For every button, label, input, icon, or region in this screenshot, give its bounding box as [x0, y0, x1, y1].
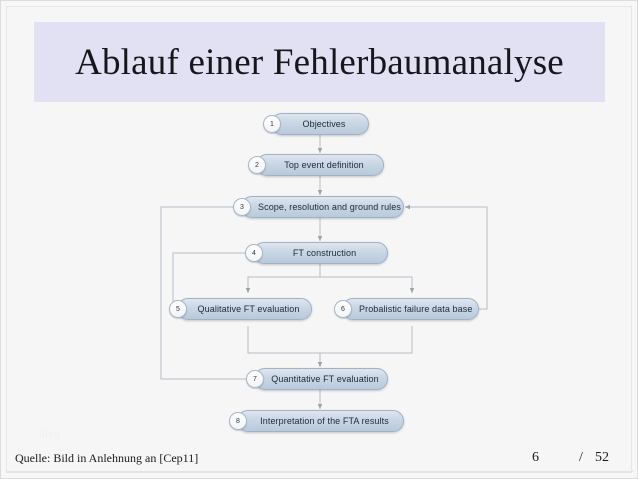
flow-node-5-badge: 5	[169, 300, 187, 318]
flow-node-5-label: Qualitative FT evaluation	[178, 304, 311, 314]
flow-node-8[interactable]: 8 Interpretation of the FTA results	[237, 410, 404, 432]
footer-page-current: 6	[532, 450, 539, 466]
flow-node-2-label: Top event definition	[257, 160, 383, 170]
flow-node-3-label: Scope, resolution and ground rules	[242, 202, 409, 212]
flow-node-1-label: Objectives	[272, 119, 368, 129]
flow-node-4-label: FT construction	[254, 248, 387, 258]
flow-node-7-badge: 7	[246, 370, 264, 388]
page-title: Ablauf einer Fehlerbaumanalyse	[34, 22, 605, 102]
flow-node-5[interactable]: 5 Qualitative FT evaluation	[177, 298, 312, 320]
slide-canvas: Ablauf einer Fehlerbaumanalyse	[0, 0, 638, 479]
footer-page-separator: /	[579, 450, 583, 466]
flow-node-7[interactable]: 7 Quantitative FT evaluation	[254, 368, 388, 390]
flow-node-2-badge: 2	[248, 156, 266, 174]
footer-source-citation: Quelle: Bild in Anlehnung an [Cep11]	[15, 451, 198, 466]
title-band: Ablauf einer Fehlerbaumanalyse	[34, 22, 605, 102]
flow-node-6-label: Probalistic failure data base	[343, 304, 480, 314]
flow-node-8-label: Interpretation of the FTA results	[238, 416, 403, 426]
flow-node-2[interactable]: 2 Top event definition	[256, 154, 384, 176]
flow-node-7-label: Quantitative FT evaluation	[255, 374, 387, 384]
flow-node-3-badge: 3	[233, 198, 251, 216]
flow-node-6-badge: 6	[334, 300, 352, 318]
footer-divider	[7, 471, 633, 472]
flow-node-1-badge: 1	[263, 115, 281, 133]
flow-node-1[interactable]: 1 Objectives	[271, 113, 369, 135]
flow-node-3[interactable]: 3 Scope, resolution and ground rules	[241, 196, 404, 218]
flow-node-4[interactable]: 4 FT construction	[253, 242, 388, 264]
footer-page-total: 52	[595, 450, 609, 466]
flow-node-8-badge: 8	[229, 412, 247, 430]
flow-node-4-badge: 4	[245, 244, 263, 262]
watermark-text: blog	[39, 428, 61, 440]
flow-node-6[interactable]: 6 Probalistic failure data base	[342, 298, 479, 320]
